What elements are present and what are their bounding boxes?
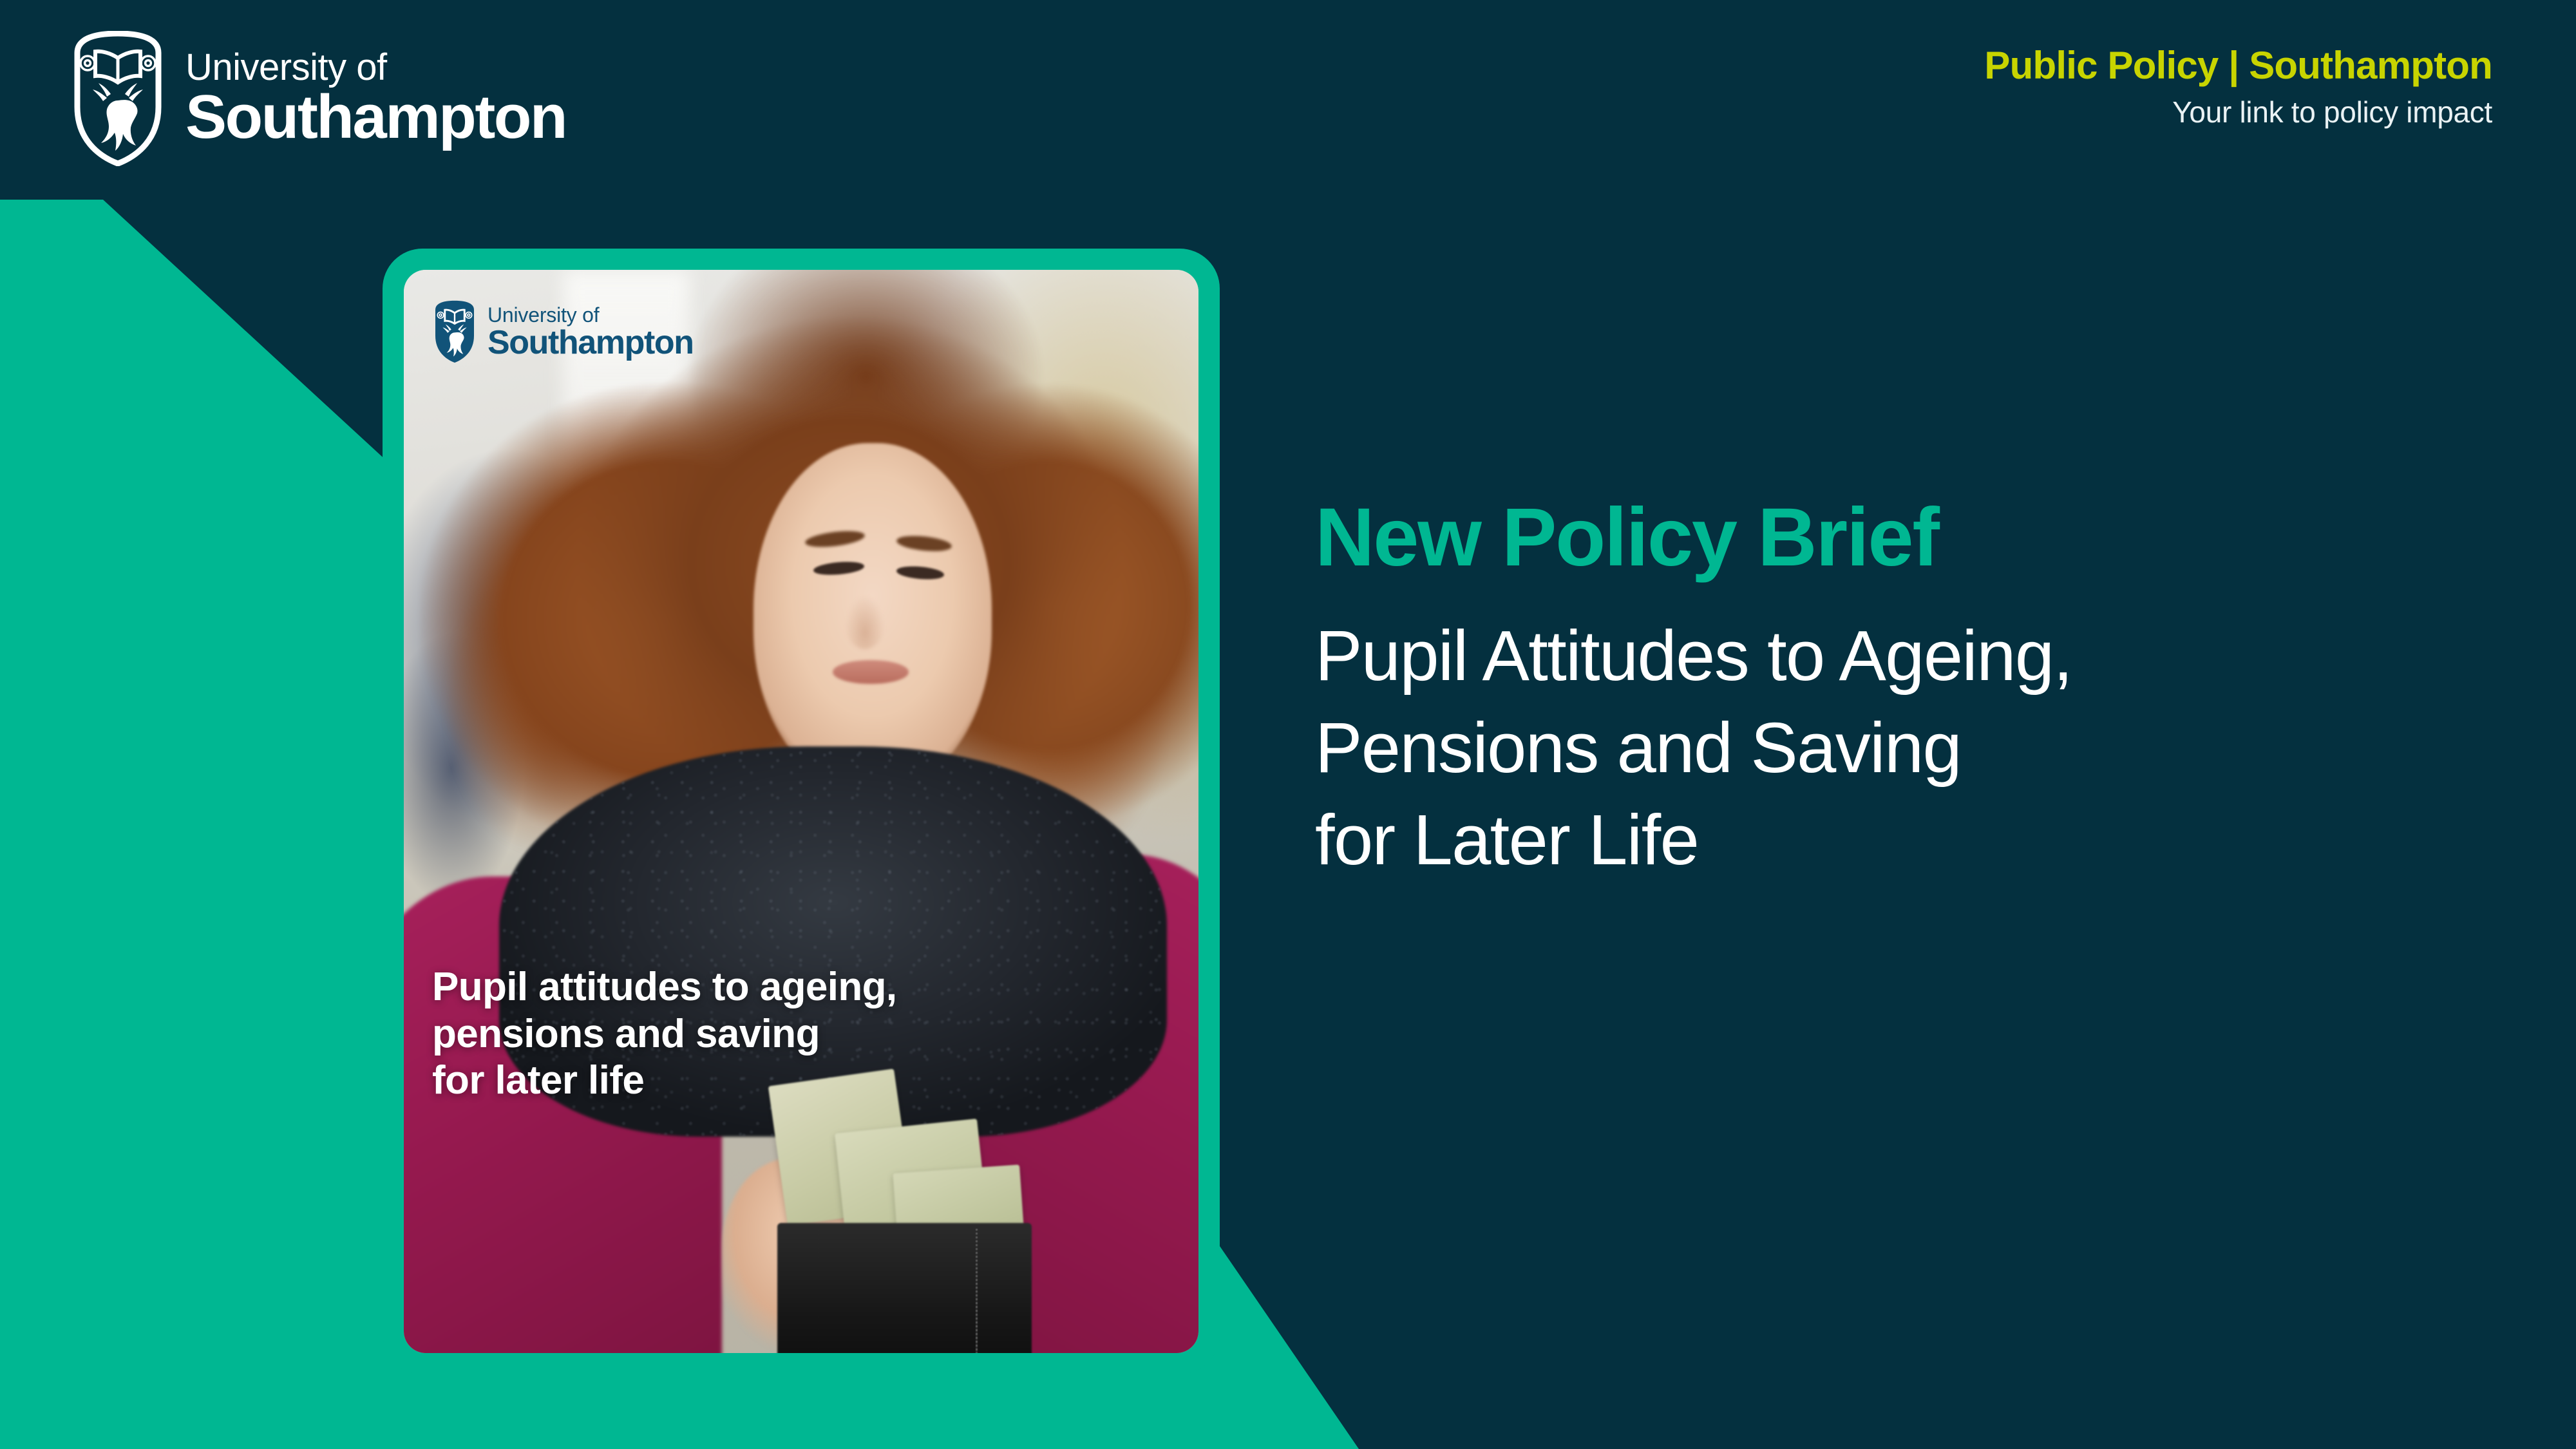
university-logo-line2: Southampton [185,87,566,147]
brief-title: Pupil Attitudes to Ageing, Pensions and … [1315,610,2448,886]
public-policy-tagline: Your link to policy impact [1984,95,2492,129]
cover-university-wordmark: University of Southampton [488,305,694,359]
university-wordmark: University of Southampton [185,50,566,148]
photo-lips [833,660,908,684]
cover-caption-line: pensions and saving [432,1011,897,1058]
main-text-block: New Policy Brief Pupil Attitudes to Agei… [1315,496,2448,886]
southampton-shield-icon [70,31,166,166]
cover-photo: University of Southampton Pupil attitude… [404,270,1198,1353]
header-bar: University of Southampton Public Policy … [0,0,2576,200]
photo-wallet-zip [976,1229,978,1353]
eyebrow-heading: New Policy Brief [1315,496,2448,580]
photo-nose [845,595,885,649]
cover-logo-line2: Southampton [488,326,694,359]
brief-title-line: Pupil Attitudes to Ageing, [1315,610,2448,702]
photo-wallet [777,1223,1032,1353]
public-policy-title: Public Policy | Southampton [1984,45,2492,86]
public-policy-brand: Public Policy | Southampton Your link to… [1984,45,2492,129]
cover-university-logo: University of Southampton [431,299,694,364]
policy-brief-slide: University of Southampton Public Policy … [0,0,2576,1449]
cover-caption-line: for later life [432,1057,897,1104]
cover-caption: Pupil attitudes to ageing, pensions and … [432,964,897,1104]
university-logo-line1: University of [185,50,566,86]
southampton-shield-icon [431,299,478,364]
cover-logo-line1: University of [488,305,694,325]
policy-brief-cover-card: University of Southampton Pupil attitude… [383,249,1220,1374]
brief-title-line: Pensions and Saving [1315,702,2448,794]
brief-title-line: for Later Life [1315,794,2448,886]
university-logo: University of Southampton [70,31,566,166]
cover-caption-line: Pupil attitudes to ageing, [432,964,897,1011]
